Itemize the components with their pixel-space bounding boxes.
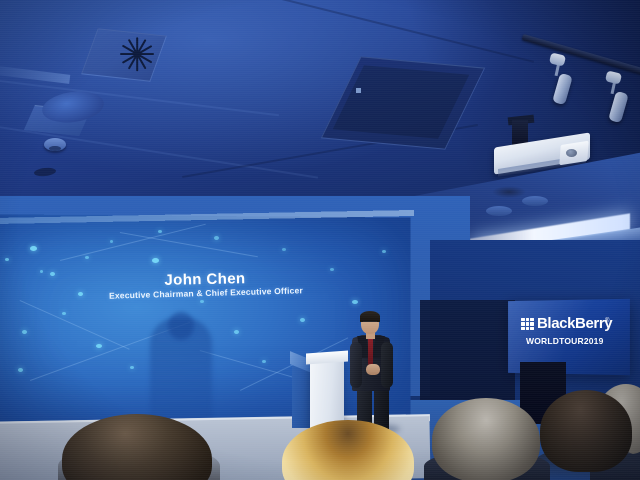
cove-downlight	[486, 206, 512, 216]
registered-trademark-icon: ®	[605, 318, 609, 324]
slide-particle	[200, 300, 204, 303]
slide-particle	[300, 318, 305, 322]
slide-particle	[352, 300, 358, 304]
blackberry-wordmark: BlackBerry	[537, 315, 612, 332]
slide-particle	[85, 256, 89, 259]
slide-particle	[110, 240, 113, 243]
audience-head-right-curly	[540, 390, 632, 472]
slide-particle	[382, 250, 386, 253]
blackberry-logo-icon	[521, 318, 534, 330]
speaker-arm-right	[381, 342, 393, 388]
slide-particle	[62, 312, 66, 315]
audience-head-right-gray	[432, 398, 540, 480]
podium-side	[292, 366, 310, 428]
speaker-necktie	[368, 338, 373, 365]
slide-particle	[18, 368, 23, 372]
cove-diffuser	[492, 186, 526, 198]
slide-particle	[282, 248, 286, 251]
slide-particle	[130, 366, 134, 369]
slide-particle	[30, 246, 37, 251]
slide-particle	[158, 230, 162, 233]
speaker-arm-left	[350, 342, 362, 388]
slide-particle	[152, 258, 159, 263]
slide-particle	[262, 360, 266, 363]
slide-particle	[5, 258, 9, 261]
slide-particle	[234, 330, 239, 334]
slide-particle	[22, 330, 27, 334]
smoke-detector-base	[49, 146, 61, 151]
conference-photo: John Chen Executive Chairman & Chief Exe…	[0, 0, 640, 480]
presenter-shadow-head	[168, 312, 194, 340]
speaker-hands	[366, 364, 380, 375]
ceiling-tray-marker	[356, 88, 361, 93]
podium	[310, 358, 344, 430]
slide-particle	[214, 236, 219, 240]
slide-particle	[96, 344, 102, 348]
slide-particle	[40, 270, 43, 273]
projector-lens-icon	[566, 149, 577, 157]
speaker-glasses-icon	[363, 321, 377, 325]
world-tour-label: WORLDTOUR2019	[526, 336, 604, 346]
